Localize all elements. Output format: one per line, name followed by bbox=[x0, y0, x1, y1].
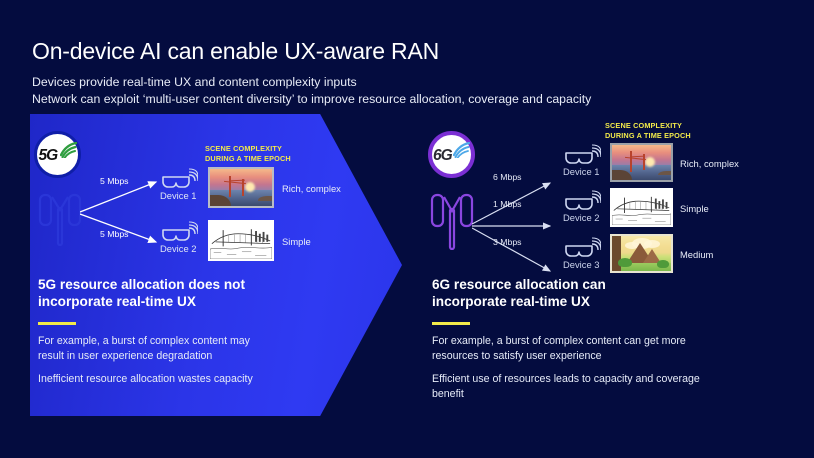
right-block-title: 6G resource allocation can incorporate r… bbox=[432, 277, 606, 310]
5g-logo-label: 5G bbox=[39, 147, 58, 165]
left-thumb-2-bridge-sketch bbox=[208, 220, 274, 261]
left-thumb-1-golden-gate bbox=[208, 167, 274, 208]
left-rate-label-2: 5 Mbps bbox=[100, 229, 129, 239]
left-divider-rule bbox=[38, 322, 76, 325]
ar-glasses-icon bbox=[160, 221, 198, 245]
cell-tower-icon bbox=[430, 188, 474, 250]
left-device-label-1: Device 1 bbox=[160, 190, 196, 201]
wifi-arcs-icon bbox=[60, 142, 77, 158]
right-thumb-caption-3: Medium bbox=[680, 249, 713, 260]
right-flow-arrows bbox=[472, 168, 572, 283]
6g-logo-label: 6G bbox=[433, 147, 452, 165]
left-thumb-caption-2: Simple bbox=[282, 236, 311, 247]
right-thumb-1-golden-gate bbox=[610, 143, 673, 182]
right-device-label-2: Device 2 bbox=[563, 212, 599, 223]
left-scene-complexity-header: SCENE COMPLEXITY DURING A TIME EPOCH bbox=[205, 144, 291, 164]
6g-wifi-logo-icon: 6G bbox=[428, 131, 475, 178]
right-thumb-2-bridge-sketch bbox=[610, 188, 673, 227]
right-rate-label-1: 6 Mbps bbox=[493, 172, 522, 182]
slide-root: On-device AI can enable UX-aware RAN Dev… bbox=[0, 0, 814, 458]
left-paragraph-1: For example, a burst of complex content … bbox=[38, 334, 250, 363]
right-paragraph-2: Efficient use of resources leads to capa… bbox=[432, 372, 700, 401]
right-thumb-3-volcano bbox=[610, 234, 673, 273]
5g-wifi-logo-icon: 5G bbox=[34, 131, 81, 178]
cell-tower-icon bbox=[38, 188, 82, 246]
right-rate-label-3: 3 Mbps bbox=[493, 237, 522, 247]
right-divider-rule bbox=[432, 322, 470, 325]
left-device-label-2: Device 2 bbox=[160, 243, 196, 254]
left-paragraph-2: Inefficient resource allocation wastes c… bbox=[38, 372, 253, 387]
wifi-arcs-icon bbox=[453, 142, 470, 158]
right-scene-complexity-header: SCENE COMPLEXITY DURING A TIME EPOCH bbox=[605, 121, 691, 141]
right-device-label-1: Device 1 bbox=[563, 166, 599, 177]
right-thumb-caption-1: Rich, complex bbox=[680, 158, 739, 169]
ar-glasses-icon bbox=[563, 190, 601, 214]
left-rate-label-1: 5 Mbps bbox=[100, 176, 129, 186]
left-block-title: 5G resource allocation does not incorpor… bbox=[38, 277, 245, 310]
right-device-label-3: Device 3 bbox=[563, 259, 599, 270]
ar-glasses-icon bbox=[563, 237, 601, 261]
ar-glasses-icon bbox=[160, 168, 198, 192]
ar-glasses-icon bbox=[563, 144, 601, 168]
page-title: On-device AI can enable UX-aware RAN bbox=[32, 38, 439, 65]
right-paragraph-1: For example, a burst of complex content … bbox=[432, 334, 686, 363]
right-thumb-caption-2: Simple bbox=[680, 203, 709, 214]
right-rate-label-2: 1 Mbps bbox=[493, 199, 522, 209]
left-thumb-caption-1: Rich, complex bbox=[282, 183, 341, 194]
page-subtitle: Devices provide real-time UX and content… bbox=[32, 74, 591, 108]
